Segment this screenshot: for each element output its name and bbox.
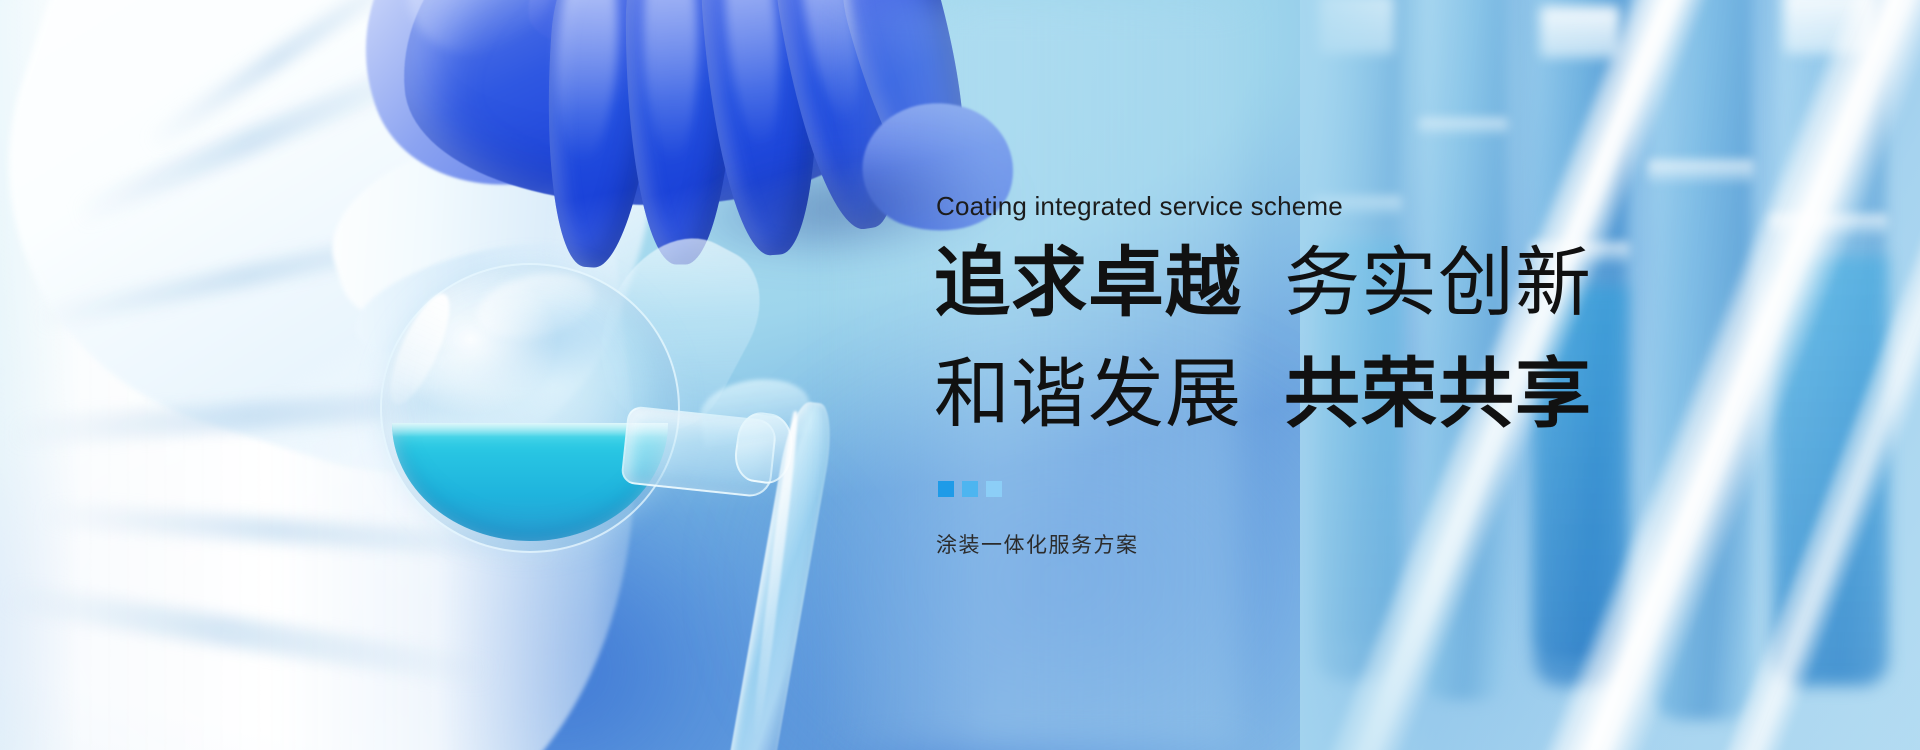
decorative-square-3: [986, 481, 1002, 497]
banner-headline-line-1: 追求卓越务实创新: [934, 246, 1592, 322]
headline-strong-part: 追求卓越: [934, 241, 1242, 326]
banner-content: Coating integrated service scheme 追求卓越务实…: [936, 0, 1920, 750]
hero-banner: Coating integrated service scheme 追求卓越务实…: [0, 0, 1920, 750]
banner-headline-line-2: 和谐发展共荣共享: [934, 357, 1592, 433]
decorative-square-2: [962, 481, 978, 497]
banner-eyebrow-text: Coating integrated service scheme: [936, 191, 1343, 222]
headline-light-part: 和谐发展: [934, 352, 1242, 437]
banner-caption-text: 涂装一体化服务方案: [936, 529, 1139, 559]
headline-light-part: 务实创新: [1284, 241, 1592, 326]
decorative-square-1: [938, 481, 954, 497]
decorative-squares: [938, 481, 1002, 497]
headline-strong-part: 共荣共享: [1284, 352, 1592, 437]
